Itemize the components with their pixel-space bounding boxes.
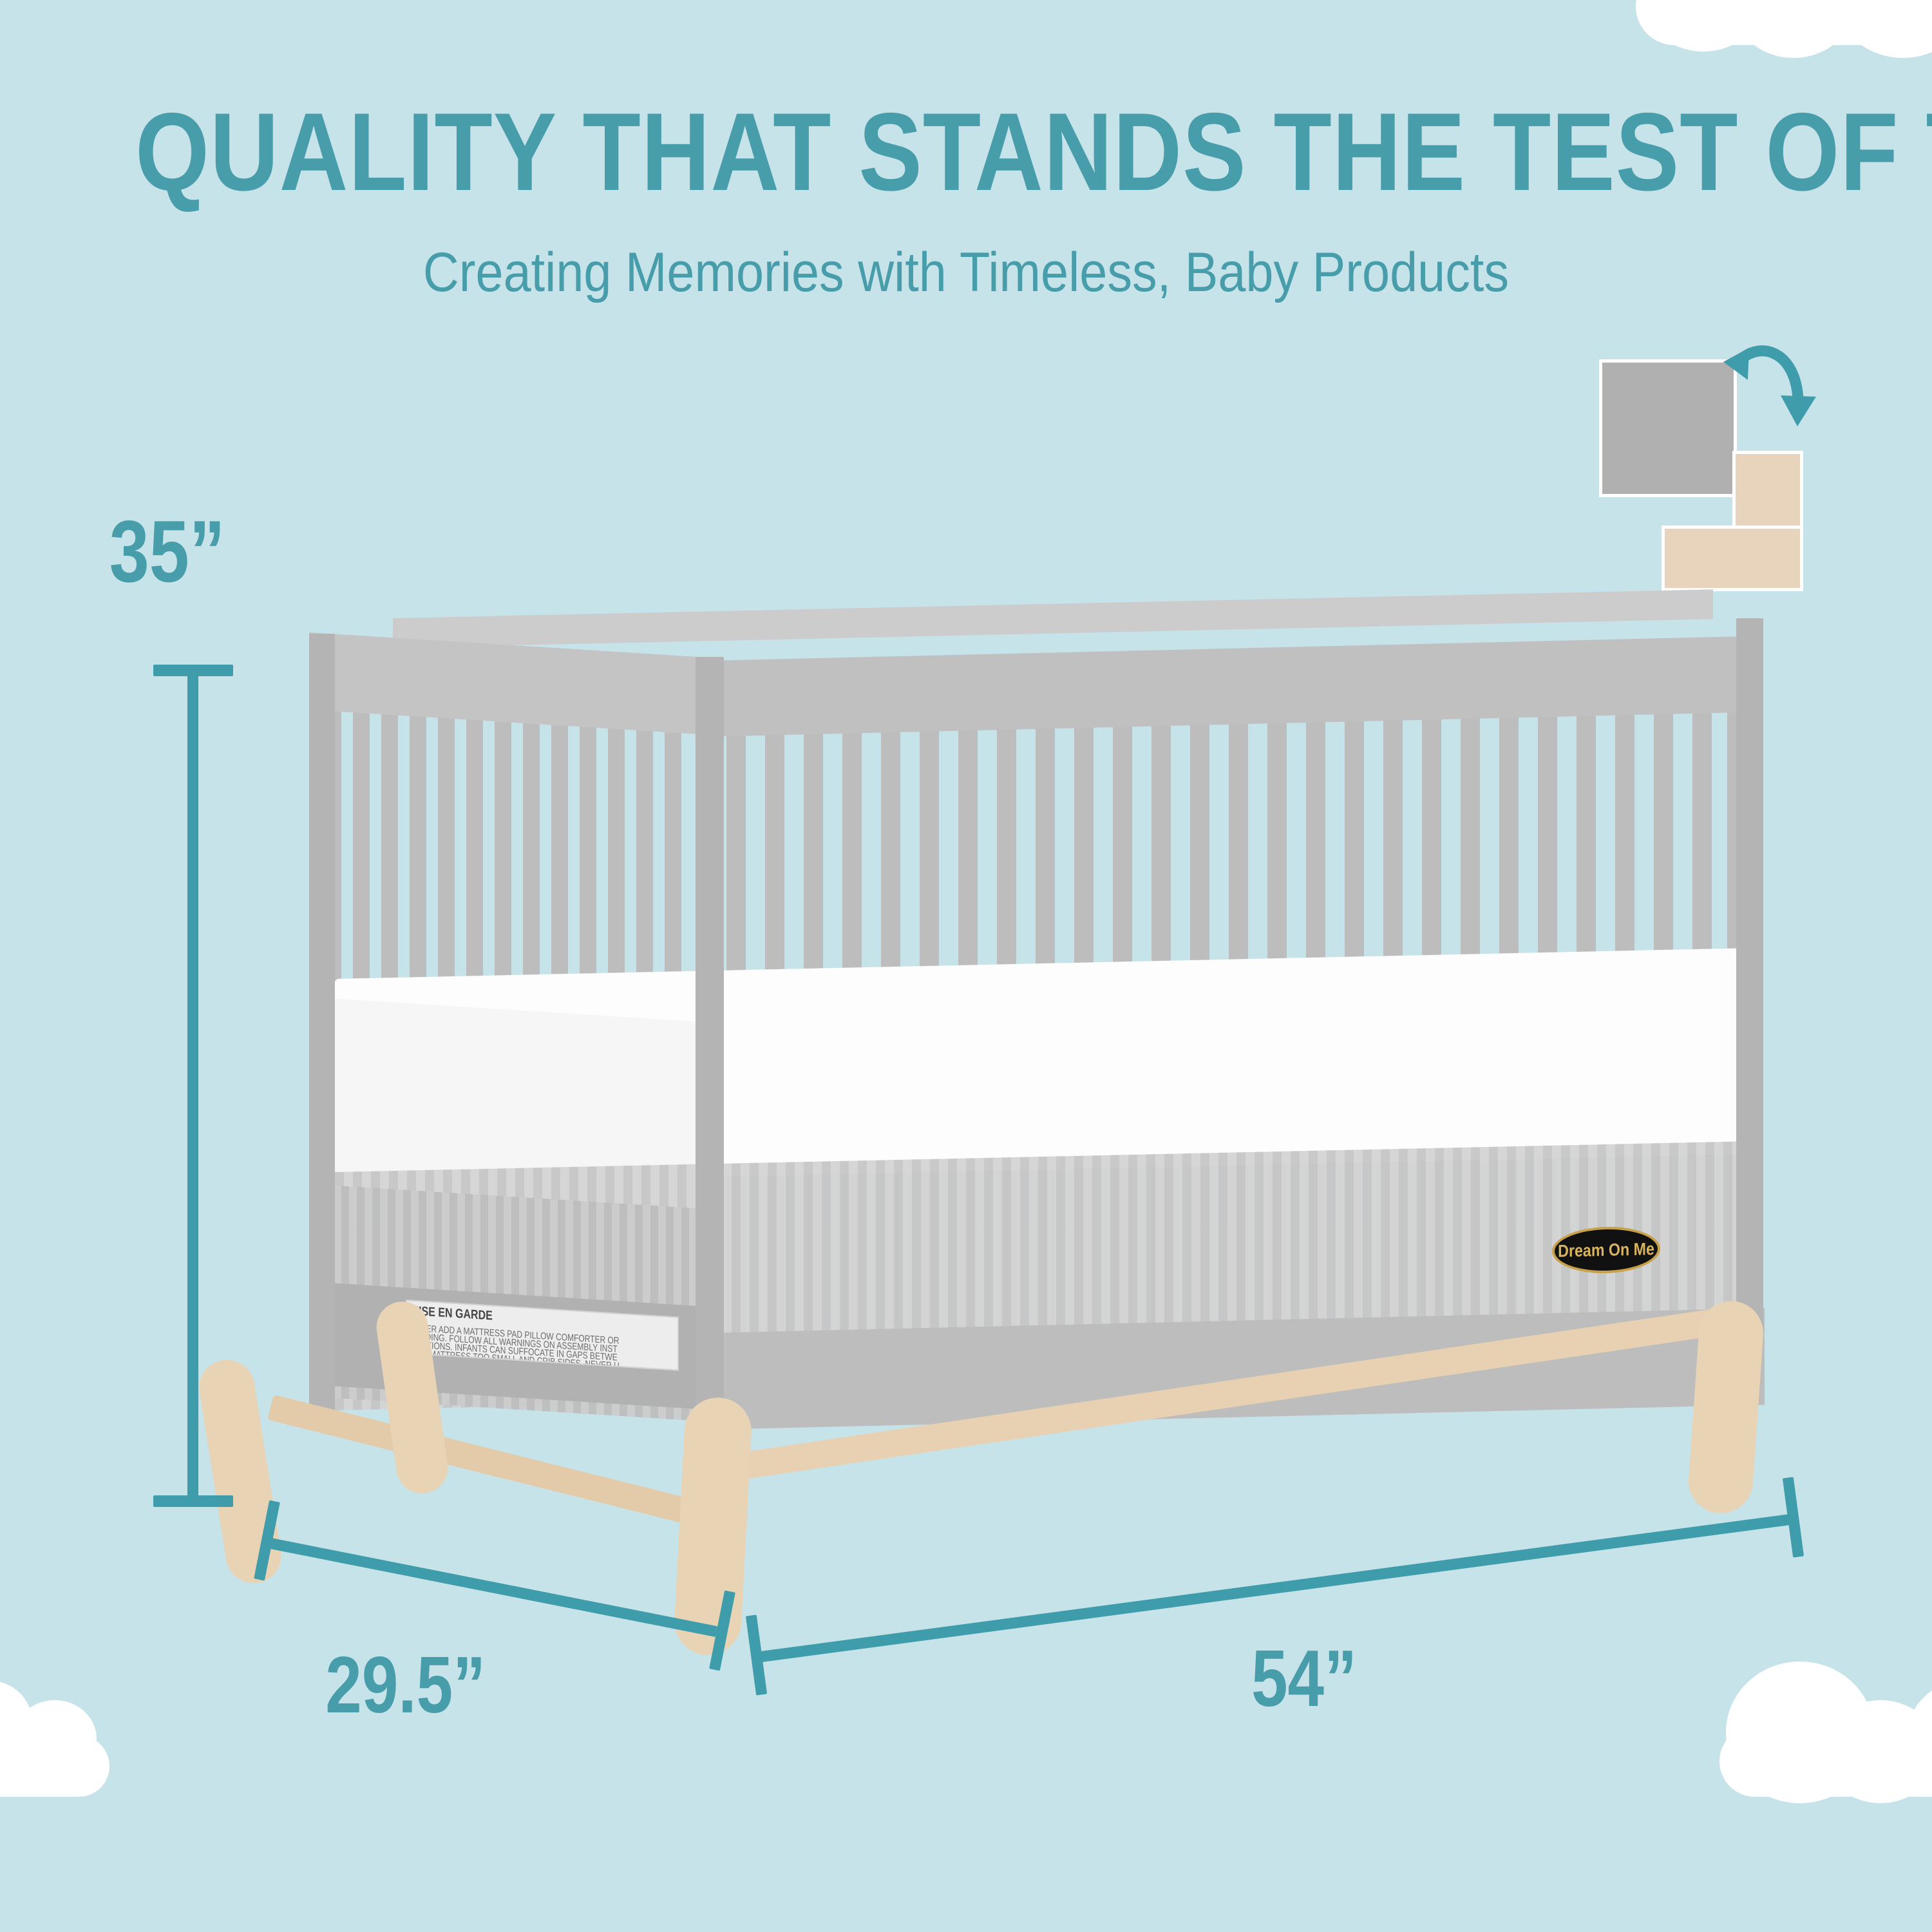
- crib-corner-post-center: [696, 657, 724, 1439]
- cloud-top-right: [1636, 0, 1932, 103]
- height-dimension-cap-bottom: [153, 1495, 233, 1507]
- infographic-canvas: QUALITY THAT STANDS THE TEST OF TIME Cre…: [0, 0, 1932, 1932]
- depth-dimension-label: 29.5”: [325, 1645, 486, 1725]
- crib-leg-front-center: [673, 1396, 753, 1657]
- height-dimension-line: [187, 670, 198, 1501]
- page-title: QUALITY THAT STANDS THE TEST OF TIME: [135, 97, 1797, 207]
- bracket-horizontal-part: [1662, 526, 1803, 591]
- height-dimension-cap-top: [153, 665, 233, 676]
- crib-corner-post-left: [309, 634, 335, 1419]
- depth-dimension-line: [269, 1538, 717, 1637]
- color-swap-arrow-icon: [1719, 340, 1816, 430]
- page-subtitle: Creating Memories with Timeless, Baby Pr…: [97, 245, 1835, 300]
- color-swatch-wood-bracket: [1662, 451, 1803, 591]
- cloud-bottom-right: [1719, 1687, 1932, 1835]
- cloud-bottom-left: [0, 1674, 161, 1816]
- height-dimension-label: 35”: [109, 507, 225, 595]
- width-dimension-label: 54”: [1251, 1639, 1357, 1719]
- crib-leg-front-left: [195, 1356, 285, 1587]
- brand-badge-text: Dream On Me: [1558, 1239, 1654, 1262]
- crib-corner-post-right: [1736, 618, 1763, 1340]
- crib-back-top-rail: [393, 589, 1713, 648]
- crib-illustration: MISE EN GARDE NEVER ADD A MATTRESS PAD P…: [309, 618, 1765, 1533]
